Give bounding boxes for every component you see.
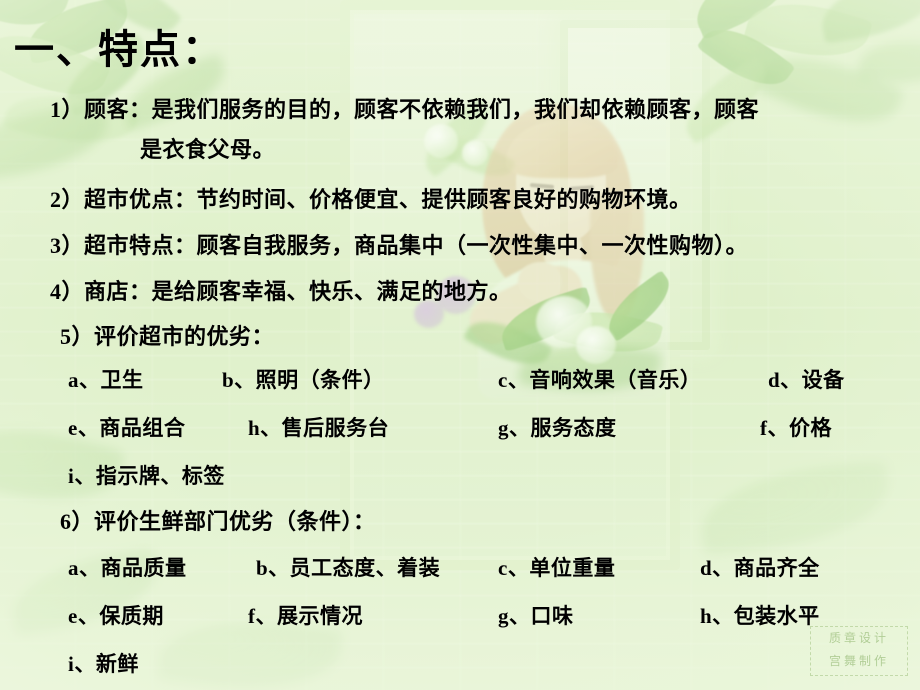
list-item-6: 6）评价生鲜部门优劣（条件）： [60, 504, 376, 536]
list-item-1-continued-text: 是衣食父母。 [140, 137, 275, 162]
criteria-fresh-i: i、新鲜 [68, 648, 139, 678]
list-item-5-text: 评价超市的优劣： [94, 324, 274, 349]
list-item-1: 1）顾客：是我们服务的目的，顾客不依赖我们，我们却依赖顾客，顾客 [50, 92, 759, 124]
criteria-supermarket-f: f、价格 [760, 412, 832, 442]
criteria-fresh-h: h、包装水平 [700, 600, 820, 630]
watermark-line-1: 质章设计 [811, 627, 907, 650]
criteria-supermarket-b: b、照明（条件） [222, 364, 385, 394]
criteria-supermarket-i: i、指示牌、标签 [68, 460, 225, 490]
criteria-supermarket-g: g、服务态度 [498, 412, 617, 442]
list-item-4-text: 商店：是给顾客幸福、快乐、满足的地方。 [84, 279, 512, 304]
list-item-5: 5）评价超市的优劣： [60, 319, 274, 351]
watermark-seal: 质章设计 宫舞制作 [810, 626, 908, 676]
criteria-fresh-d: d、商品齐全 [700, 552, 820, 582]
criteria-fresh-g: g、口味 [498, 600, 574, 630]
criteria-fresh-c: c、单位重量 [498, 552, 615, 582]
slide-canvas: 一、特点： 1）顾客：是我们服务的目的，顾客不依赖我们，我们却依赖顾客，顾客 是… [0, 0, 920, 690]
list-item-2-marker: 2） [50, 187, 84, 212]
page-title: 一、特点： [14, 17, 224, 75]
criteria-supermarket-a: a、卫生 [68, 364, 144, 394]
list-item-3-text: 超市特点：顾客自我服务，商品集中（一次性集中、一次性购物）。 [84, 233, 748, 258]
criteria-fresh-a: a、商品质量 [68, 552, 187, 582]
list-item-1-marker: 1） [50, 97, 84, 122]
criteria-supermarket-e: e、商品组合 [68, 412, 185, 442]
criteria-supermarket-h: h、售后服务台 [248, 412, 389, 442]
list-item-6-text: 评价生鲜部门优劣（条件）： [94, 509, 376, 534]
list-item-1-continued: 是衣食父母。 [140, 132, 275, 164]
criteria-fresh-f: f、展示情况 [248, 600, 363, 630]
criteria-supermarket-c: c、音响效果（音乐） [498, 364, 701, 394]
criteria-supermarket-d: d、设备 [768, 364, 845, 394]
list-item-2: 2）超市优点：节约时间、价格便宜、提供顾客良好的购物环境。 [50, 182, 692, 214]
criteria-fresh-b: b、员工态度、着装 [256, 552, 440, 582]
list-item-4: 4）商店：是给顾客幸福、快乐、满足的地方。 [50, 274, 512, 306]
list-item-5-marker: 5） [60, 324, 94, 349]
list-item-1-text: 顾客：是我们服务的目的，顾客不依赖我们，我们却依赖顾客，顾客 [84, 97, 759, 122]
list-item-3-marker: 3） [50, 233, 84, 258]
list-item-3: 3）超市特点：顾客自我服务，商品集中（一次性集中、一次性购物）。 [50, 228, 748, 260]
criteria-fresh-e: e、保质期 [68, 600, 164, 630]
list-item-4-marker: 4） [50, 279, 84, 304]
list-item-2-text: 超市优点：节约时间、价格便宜、提供顾客良好的购物环境。 [84, 187, 692, 212]
watermark-line-2: 宫舞制作 [811, 650, 907, 673]
list-item-6-marker: 6） [60, 509, 94, 534]
